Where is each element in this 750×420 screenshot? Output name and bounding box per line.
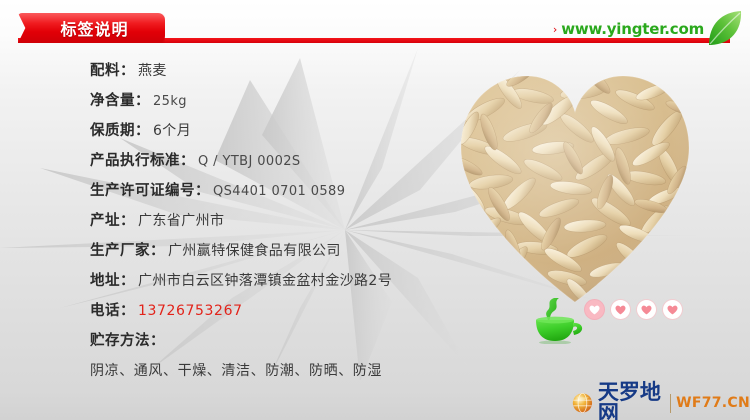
info-value: 广州赢特保健食品有限公司 — [168, 243, 341, 259]
info-label: 生产许可证编号： — [90, 183, 210, 199]
info-value: 25kg — [153, 94, 187, 109]
heart-icon — [589, 305, 600, 315]
label-description-page: 标签说明 › www.yingter.com 配料：燕麦 净含量：25kg — [0, 0, 750, 420]
tab-label-description-text: 标签说明 — [18, 16, 165, 40]
heart-badge[interactable] — [637, 300, 656, 319]
info-value: 广东省广州市 — [138, 213, 224, 229]
info-line-address: 地址：广州市白云区钟落潭镇金盆村金沙路2号 — [90, 266, 450, 296]
globe-icon — [572, 390, 593, 416]
watermark-domain: WF77.CN — [676, 396, 750, 410]
green-teacup-icon — [528, 296, 590, 344]
info-label: 贮存方法： — [90, 333, 165, 349]
info-line-phone: 电话：13726753267 — [90, 296, 450, 326]
footer-watermark[interactable]: 天罗地网 WF77.CN — [572, 382, 750, 420]
heart-icon — [667, 305, 678, 315]
info-line-product-standard: 产品执行标准：Q / YTBJ 0002S — [90, 146, 450, 176]
heart-icon — [641, 305, 652, 315]
info-label: 产址： — [90, 213, 135, 229]
info-line-storage: 贮存方法： — [90, 326, 450, 356]
watermark-site-name: 天罗地网 — [598, 382, 665, 420]
heart-badge[interactable] — [611, 300, 630, 319]
info-line-manufacturer: 生产厂家：广州赢特保健食品有限公司 — [90, 236, 450, 266]
info-label: 生产厂家： — [90, 243, 165, 259]
tab-label-description[interactable]: 标签说明 — [18, 13, 165, 43]
heart-badge[interactable] — [663, 300, 682, 319]
info-line-ingredients: 配料：燕麦 — [90, 56, 450, 86]
info-value: 广州市白云区钟落潭镇金盆村金沙路2号 — [138, 273, 392, 289]
info-value: 6个月 — [153, 123, 191, 139]
site-url-text: www.yingter.com — [561, 20, 704, 38]
heart-icon — [615, 305, 626, 315]
phone-number: 13726753267 — [138, 303, 243, 319]
info-line-production-license: 生产许可证编号：QS4401 0701 0589 — [90, 176, 450, 206]
site-url-group[interactable]: › www.yingter.com — [553, 20, 704, 38]
product-info-list: 配料：燕麦 净含量：25kg 保质期：6个月 产品执行标准：Q / YTBJ 0… — [90, 56, 450, 386]
info-label: 保质期： — [90, 123, 150, 139]
watermark-divider — [670, 394, 671, 413]
info-label: 电话： — [90, 303, 135, 319]
info-line-shelf-life: 保质期：6个月 — [90, 116, 450, 146]
info-value: QS4401 0701 0589 — [213, 184, 345, 199]
info-label: 地址： — [90, 273, 135, 289]
chevron-right-icon: › — [553, 24, 557, 35]
heart-rating — [585, 300, 682, 319]
heart-shaped-oats-image — [455, 70, 695, 305]
info-line-net-weight: 净含量：25kg — [90, 86, 450, 116]
info-label: 配料： — [90, 63, 135, 79]
leaf-icon — [704, 8, 744, 48]
heart-badge[interactable] — [585, 300, 604, 319]
storage-method-detail: 阴凉、通风、干燥、清洁、防潮、防晒、防湿 — [90, 356, 450, 386]
info-label: 产品执行标准： — [90, 153, 195, 169]
page-header: 标签说明 › www.yingter.com — [0, 0, 750, 48]
info-value: 燕麦 — [138, 63, 167, 79]
info-label: 净含量： — [90, 93, 150, 109]
info-line-origin: 产址：广东省广州市 — [90, 206, 450, 236]
info-value: Q / YTBJ 0002S — [198, 154, 301, 169]
